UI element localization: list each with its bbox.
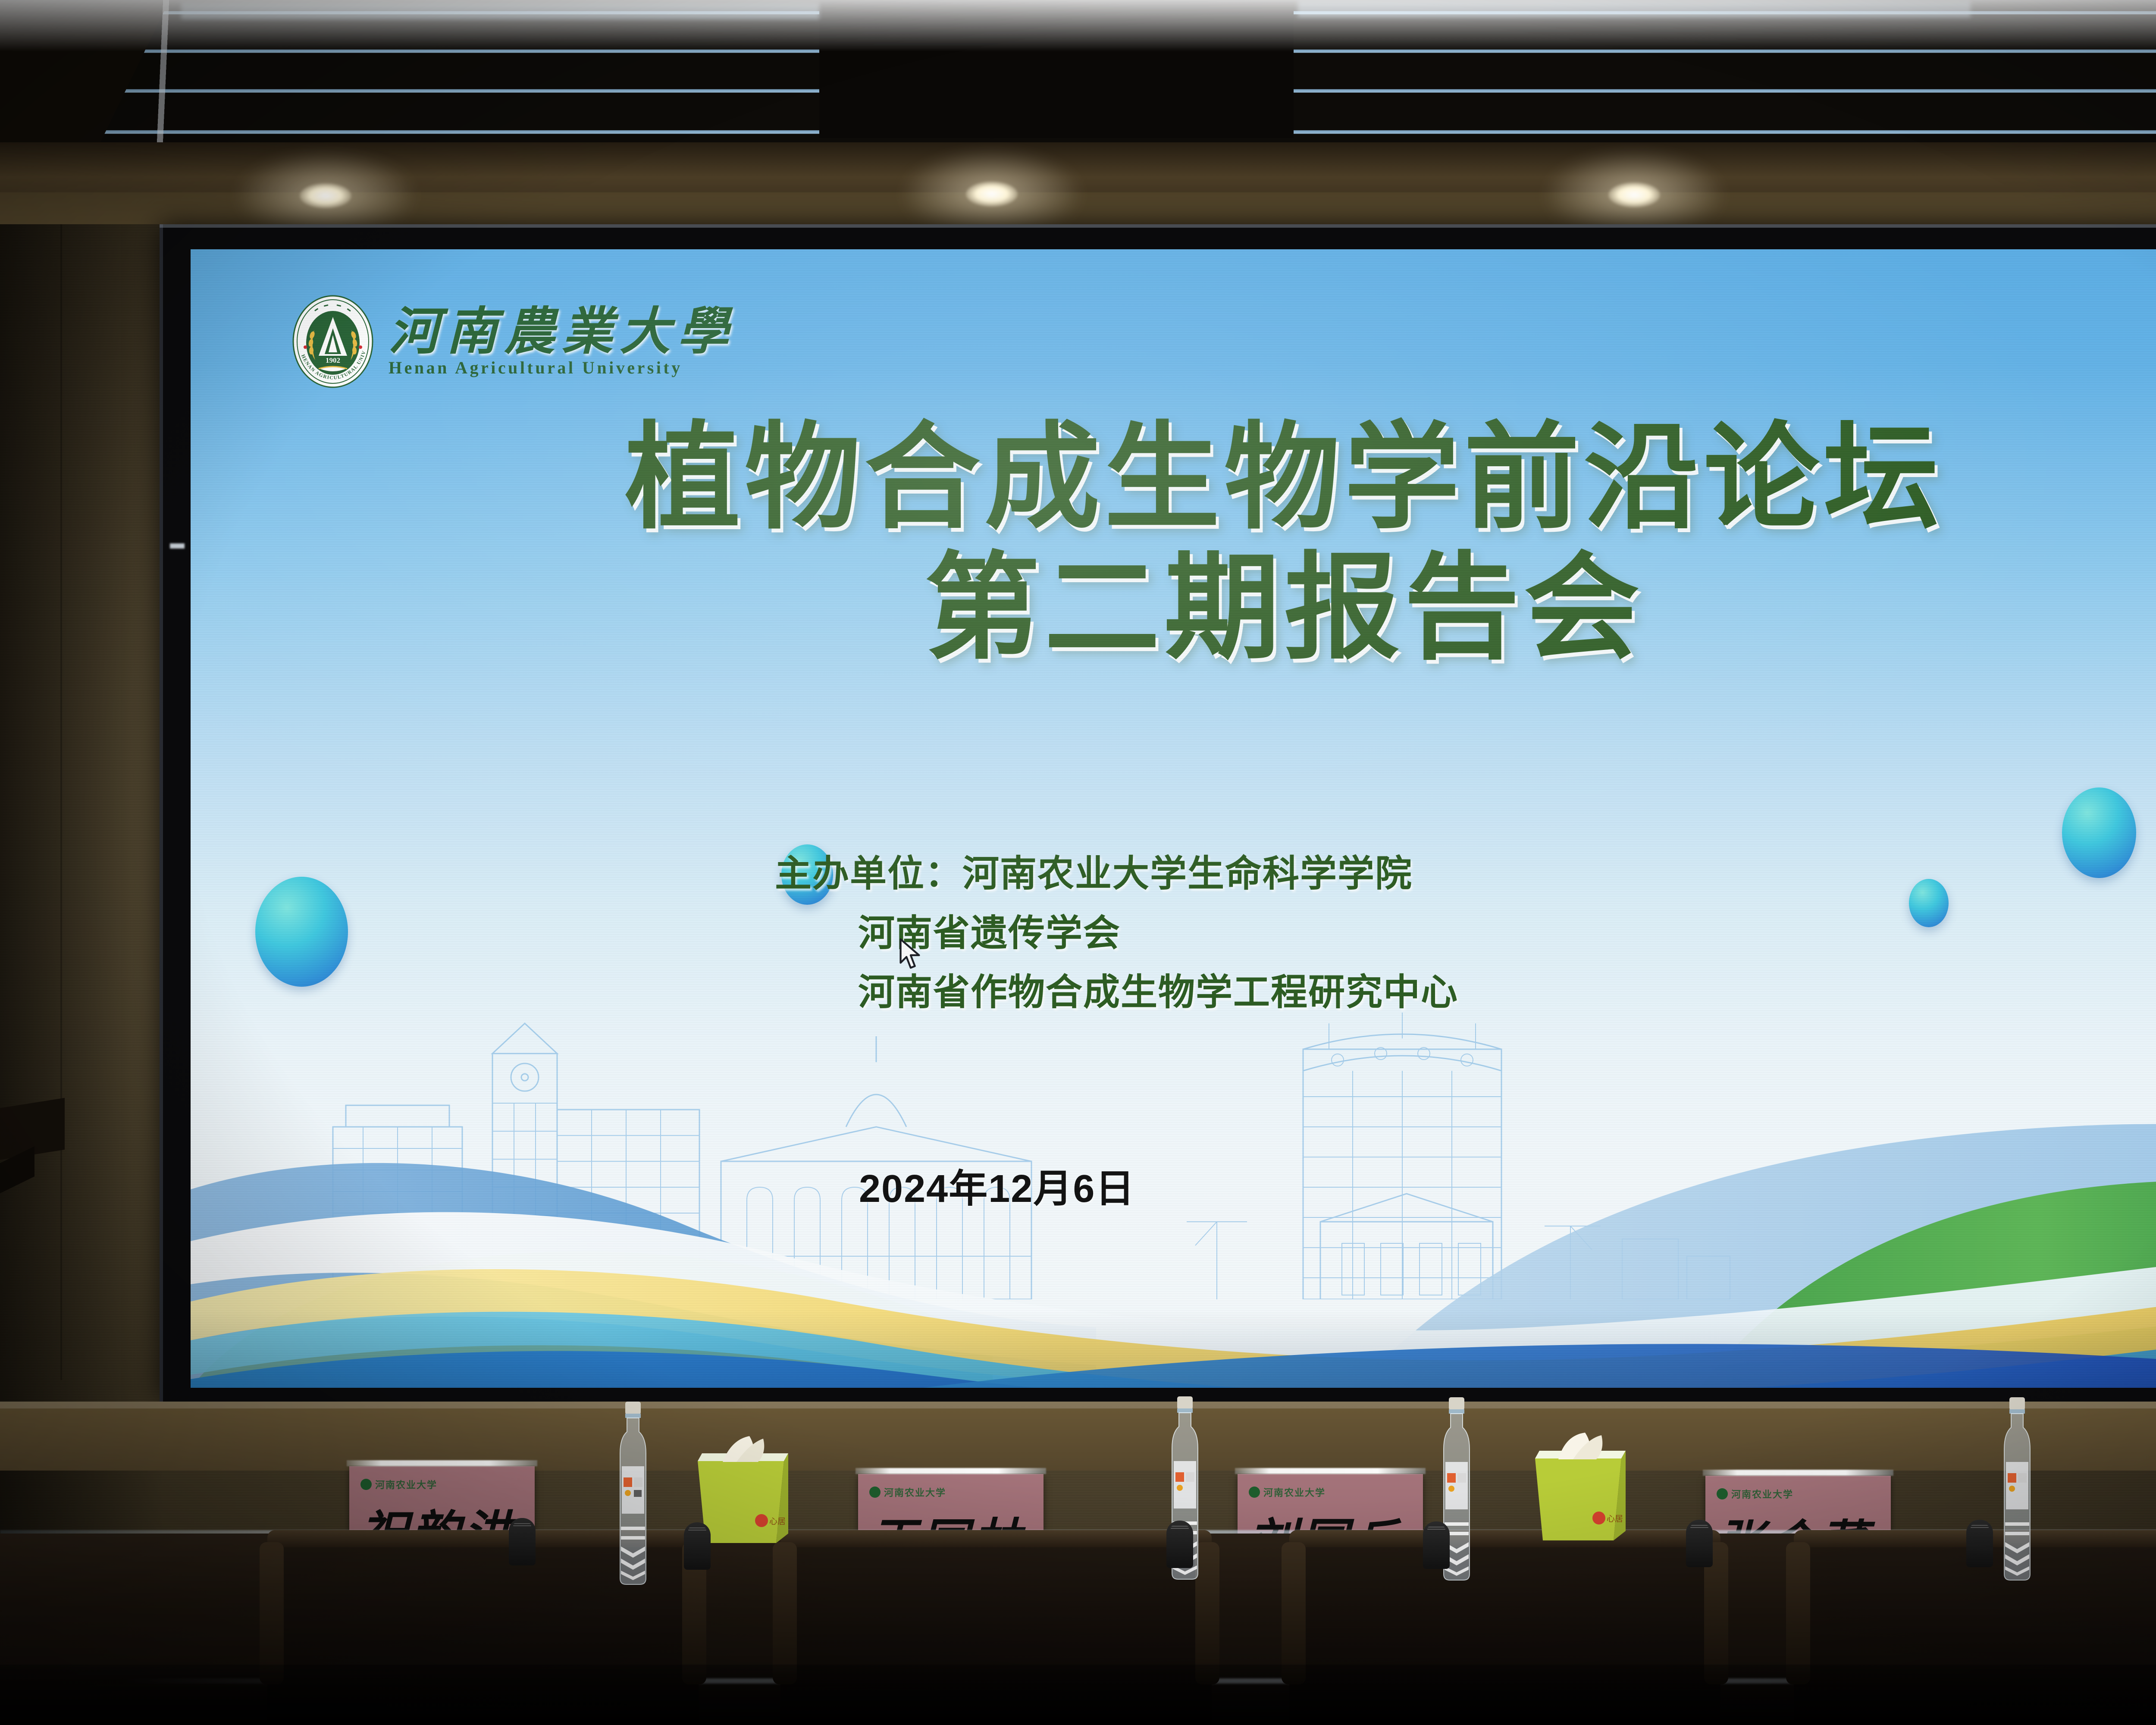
microphone-6[interactable] [1966,1520,1993,1567]
university-name-cn: 河南農業大學 [389,307,735,358]
university-logo: 1902 HENAN AGRICULTURAL UNIVERSITY 河南農業大… [292,295,735,389]
led-screen-display[interactable]: 1902 HENAN AGRICULTURAL UNIVERSITY 河南農業大… [191,249,2156,1388]
svg-text:心居: 心居 [769,1517,786,1526]
downlight-3 [1608,182,1660,207]
name-card-micro-text-1: 河南农业大学 [375,1477,437,1491]
microphone-3[interactable] [1166,1521,1193,1568]
ceiling-glow [0,0,2156,52]
downlight-2 [966,182,1018,207]
crest-year: 1902 [326,356,340,364]
slide-date: 2024年12月6日 [859,1157,1135,1213]
foreground-shadow [0,1665,2156,1725]
microphone-1[interactable] [509,1518,536,1565]
organizer-line-1: 主办单位：河南农业大学生命科学学院 [775,844,2156,904]
name-card-micro-text-2: 河南农业大学 [884,1485,946,1499]
microphone-5[interactable] [1686,1520,1713,1567]
slide-title-block: 植物合成生物学前沿论坛 第二期报告会 [191,417,2156,670]
stage-base [0,1402,2156,1471]
mouse-cursor-arrow-icon [898,938,922,970]
name-card-crest-icon [869,1487,881,1498]
university-crest-icon: 1902 HENAN AGRICULTURAL UNIVERSITY [292,295,374,389]
name-card-crest-icon [1249,1487,1260,1498]
stage-front-lip [0,1402,2156,1408]
name-card-crest-icon [1717,1488,1728,1499]
slide-title-line1: 植物合成生物学前沿论坛 [191,417,2156,540]
microphone-4[interactable] [1423,1521,1450,1569]
name-card-micro-text-4: 河南农业大学 [1731,1487,1793,1501]
name-card-micro-text-3: 河南农业大学 [1263,1485,1326,1499]
tissue-box-2: 心居 [1522,1433,1634,1540]
water-bottle-1 [612,1402,654,1587]
organizer-line-3: 河南省作物合成生物学工程研究中心 [775,963,2156,1022]
conference-hall-scene: 1902 HENAN AGRICULTURAL UNIVERSITY 河南農業大… [0,0,2156,1725]
organizer-block: 主办单位：河南农业大学生命科学学院 河南省遗传学会 河南省作物合成生物学工程研究… [191,844,2156,1022]
organizer-line-2: 河南省遗传学会 [775,904,2156,963]
name-card-crest-icon [360,1479,372,1490]
downlight-1 [300,183,351,208]
university-name-en: Henan Agricultural University [389,359,735,376]
slide-title-line2: 第二期报告会 [191,548,2156,670]
svg-text:心居: 心居 [1607,1515,1623,1524]
microphone-2[interactable] [684,1522,711,1570]
water-bottle-4 [1996,1397,2038,1583]
